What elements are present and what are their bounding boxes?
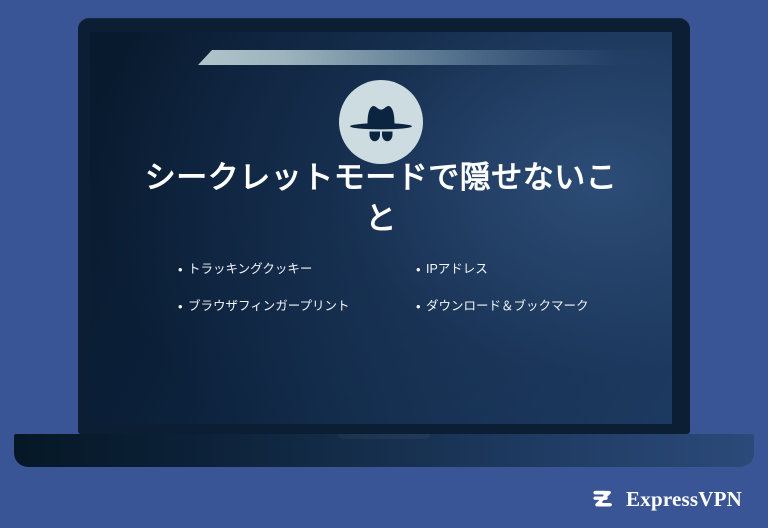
expressvpn-logo: ExpressVPN [587,484,742,514]
list-item: • ダウンロード＆ブックマーク [416,297,602,317]
feature-column-left: • トラッキングクッキー • ブラウザフィンガープリント [178,260,364,333]
brand-name-label: ExpressVPN [626,489,742,510]
expressvpn-e-mark [587,484,617,514]
laptop-lid: シークレットモードで隠せないこと • トラッキングクッキー • ブラウザフィンガ… [78,18,690,434]
laptop-screen: シークレットモードで隠せないこと • トラッキングクッキー • ブラウザフィンガ… [90,32,672,424]
feature-list: • トラッキングクッキー • ブラウザフィンガープリント • IPアドレス • [178,260,606,333]
laptop-base-notch [338,434,430,439]
list-item: • IPアドレス [416,260,602,280]
laptop-base [14,434,754,467]
list-item-label: IPアドレス [426,260,602,279]
list-item-label: ブラウザフィンガープリント [188,297,364,316]
laptop-illustration: シークレットモードで隠せないこと • トラッキングクッキー • ブラウザフィンガ… [0,0,768,528]
bullet-dot-icon: • [416,260,426,280]
list-item-label: トラッキングクッキー [188,260,364,279]
page-title: シークレットモードで隠せないこと [142,157,620,239]
list-item: • ブラウザフィンガープリント [178,297,364,317]
bullet-dot-icon: • [178,260,188,280]
feature-column-right: • IPアドレス • ダウンロード＆ブックマーク [416,260,602,333]
incognito-icon [339,80,423,164]
list-item-label: ダウンロード＆ブックマーク [426,297,602,316]
decorative-stripe [198,50,672,65]
bullet-dot-icon: • [416,297,426,317]
list-item: • トラッキングクッキー [178,260,364,280]
bullet-dot-icon: • [178,297,188,317]
